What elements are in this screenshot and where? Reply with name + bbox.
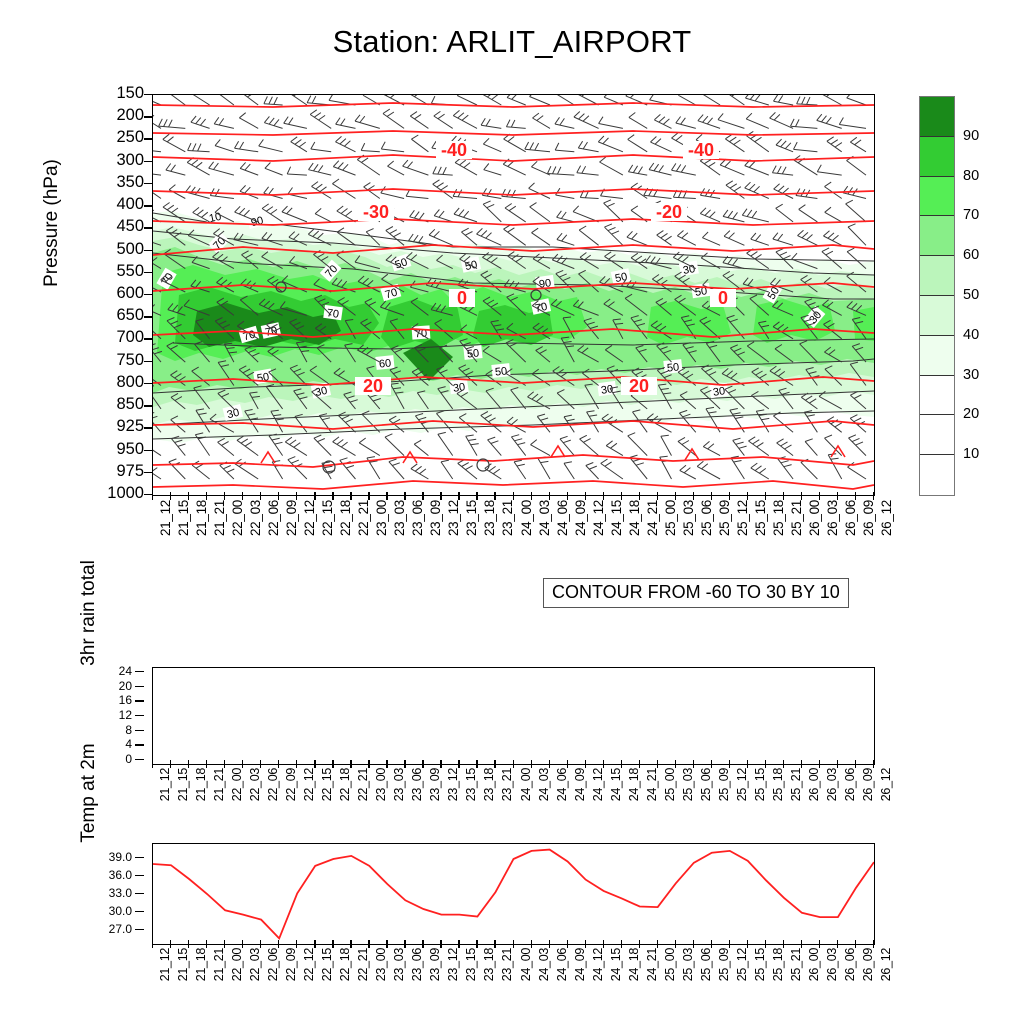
wind-barb <box>702 232 720 245</box>
wind-barb <box>483 138 501 152</box>
wind-barb <box>725 134 744 152</box>
time-tick-26_06: 26_06 <box>843 948 857 981</box>
time-tickmark <box>224 760 225 768</box>
time-tickmark <box>837 492 838 500</box>
wind-barb <box>240 185 258 198</box>
wind-barb <box>548 166 575 175</box>
time-tickmark <box>242 940 243 948</box>
time-tick-21_21: 21_21 <box>212 500 227 536</box>
time-tickmark <box>657 940 658 948</box>
svg-text:30: 30 <box>314 385 328 399</box>
surface-marker-layer <box>261 446 845 463</box>
wind-barb <box>191 116 210 128</box>
wind-barb <box>606 441 623 456</box>
wind-barb <box>329 95 356 105</box>
wind-barb <box>153 95 161 105</box>
pressure-tick-500: 500 <box>116 241 144 258</box>
colorbar-label-70: 70 <box>963 207 979 223</box>
wind-barb <box>332 179 355 199</box>
time-tick-23_03: 23_03 <box>392 948 406 981</box>
wind-barb <box>731 456 745 479</box>
wind-barb <box>651 137 672 152</box>
wind-barb <box>458 459 477 479</box>
wind-barb <box>601 459 623 479</box>
time-tickmark <box>296 760 297 768</box>
time-tickmark <box>639 760 640 768</box>
wind-barb <box>214 117 234 128</box>
wind-barb <box>745 182 769 198</box>
time-tick-24_18: 24_18 <box>627 948 641 981</box>
wind-barb <box>586 463 599 480</box>
colorbar-label-30: 30 <box>963 367 979 383</box>
wind-barb <box>720 159 744 175</box>
wind-barb <box>159 119 186 129</box>
time-tickmark <box>242 492 243 500</box>
time-tickmark <box>188 760 189 768</box>
wind-barb <box>243 95 258 105</box>
pressure-tick-250: 250 <box>116 129 144 146</box>
time-tickmark <box>585 492 586 500</box>
wind-barb <box>403 160 429 175</box>
time-tickmark <box>621 760 622 768</box>
axis-tick-12: 12 <box>119 709 132 721</box>
time-tick-22_00: 22_00 <box>230 768 244 801</box>
pressure-tick-950: 950 <box>116 441 144 458</box>
pressure-tick-1000: 1000 <box>107 485 144 502</box>
time-tickmark <box>476 940 477 948</box>
wind-barb <box>340 458 356 479</box>
time-tickmark <box>873 492 874 500</box>
time-tick-24_21: 24_21 <box>645 948 659 981</box>
wind-barb <box>235 459 258 479</box>
time-tickmark <box>729 492 730 500</box>
wind-barb <box>828 454 842 479</box>
wind-barb <box>827 417 842 433</box>
time-tick-21_15: 21_15 <box>176 948 190 981</box>
time-tick-24_12: 24_12 <box>591 948 605 981</box>
axis-tickmark <box>135 875 144 876</box>
wind-barb <box>153 441 161 456</box>
time-tickmark <box>386 760 387 768</box>
time-tickmark <box>567 940 568 948</box>
wind-barb <box>533 113 551 128</box>
wind-barb <box>259 139 283 151</box>
time-tickmark <box>368 492 369 500</box>
time-tickmark <box>855 940 856 948</box>
wind-barb <box>488 437 502 456</box>
wind-barb <box>307 96 331 105</box>
time-tickmark <box>188 940 189 948</box>
time-tick-23_15: 23_15 <box>464 768 478 801</box>
time-tickmark <box>513 492 514 500</box>
time-tickmark <box>783 492 784 500</box>
time-tickmark <box>873 760 874 768</box>
time-tickmark <box>585 760 586 768</box>
time-tickmark <box>458 760 459 768</box>
time-tick-22_03: 22_03 <box>248 500 263 536</box>
time-tickmark <box>711 940 712 948</box>
time-tickmark <box>711 760 712 768</box>
time-tick-25_06: 25_06 <box>699 948 713 981</box>
axis-tickmark <box>135 686 144 687</box>
time-tickmark <box>603 760 604 768</box>
wind-barb <box>433 180 453 199</box>
wind-barb <box>573 206 599 222</box>
wind-barb <box>631 183 647 199</box>
wind-barb <box>386 227 404 246</box>
time-tickmark <box>170 760 171 768</box>
wind-barb <box>823 231 841 246</box>
time-tick-24_03: 24_03 <box>537 500 552 536</box>
pressure-tick-450: 450 <box>116 218 144 235</box>
wind-barb <box>577 166 599 176</box>
time-tick-23_21: 23_21 <box>500 948 514 981</box>
wind-barb <box>453 110 477 128</box>
time-tick-23_15: 23_15 <box>464 948 478 981</box>
time-tickmark <box>260 760 261 768</box>
wind-barb <box>481 118 501 128</box>
time-tickmark <box>675 940 676 948</box>
svg-text:50: 50 <box>494 365 507 378</box>
pressure-axis-labels: 1502002503003504004505005506006507007508… <box>40 94 144 494</box>
temp-canvas <box>153 844 874 944</box>
wind-barb <box>805 439 817 456</box>
time-tick-22_21: 22_21 <box>356 500 371 536</box>
pressure-tick-350: 350 <box>116 174 144 191</box>
time-tickmark <box>693 760 694 768</box>
wind-barb <box>723 210 744 222</box>
time-tick-25_03: 25_03 <box>681 500 696 536</box>
wind-barb <box>165 95 185 105</box>
time-tick-22_00: 22_00 <box>230 948 244 981</box>
time-tick-25_03: 25_03 <box>681 768 695 801</box>
colorbar-label-50: 50 <box>963 287 979 303</box>
time-tick-23_18: 23_18 <box>482 948 496 981</box>
time-tick-23_15: 23_15 <box>464 500 479 536</box>
time-tickmark <box>404 940 405 948</box>
axis-tickmark <box>135 730 144 731</box>
time-height-cross-section[interactable]: 10 90 70 70 70 50 50 90 70 50 30 70 70 7… <box>152 94 875 496</box>
time-tickmark <box>549 940 550 948</box>
time-tickmark <box>296 492 297 500</box>
wind-barb <box>697 461 720 479</box>
pressure-tick-850: 850 <box>116 396 144 413</box>
wind-barb <box>187 157 209 175</box>
time-tick-22_21: 22_21 <box>356 768 370 801</box>
wind-barb <box>153 181 161 199</box>
time-tickmark <box>693 940 694 948</box>
time-tick-24_03: 24_03 <box>537 948 551 981</box>
time-tick-26_00: 26_00 <box>807 948 821 981</box>
time-tick-24_12: 24_12 <box>591 768 605 801</box>
wind-barb <box>264 96 283 105</box>
wind-barb <box>751 233 769 245</box>
wind-barb <box>314 435 331 456</box>
time-tickmark <box>152 940 153 948</box>
wind-barb <box>555 143 574 152</box>
wind-barb <box>825 207 842 222</box>
time-tickmark <box>386 940 387 948</box>
axis-tick-8: 8 <box>125 724 132 736</box>
wind-barb <box>628 165 647 175</box>
time-tickmark <box>567 760 568 768</box>
time-tick-23_03: 23_03 <box>392 768 406 801</box>
svg-text:0: 0 <box>718 288 728 308</box>
time-tick-22_06: 22_06 <box>266 768 280 801</box>
time-tickmark <box>368 760 369 768</box>
time-tickmark <box>513 940 514 948</box>
wind-barb <box>438 432 453 455</box>
wind-barb <box>282 206 307 222</box>
wind-barb <box>311 142 331 152</box>
time-tickmark <box>260 940 261 948</box>
time-tick-24_18: 24_18 <box>627 768 641 801</box>
wind-barb <box>776 204 793 222</box>
wind-barb <box>507 95 526 105</box>
time-tickmark <box>819 492 820 500</box>
wind-barb <box>337 206 356 222</box>
time-tick-26_00: 26_00 <box>807 768 821 801</box>
time-tickmark <box>837 940 838 948</box>
wind-barb <box>433 167 453 176</box>
pressure-tick-400: 400 <box>116 196 144 213</box>
time-tickmark <box>567 492 568 500</box>
time-tickmark <box>747 940 748 948</box>
time-tick-22_21: 22_21 <box>356 948 370 981</box>
wind-barb <box>529 183 550 199</box>
wind-barb <box>466 435 479 456</box>
wind-barb <box>657 231 672 246</box>
wind-barb <box>726 181 745 199</box>
temp-axis-labels: 39.036.033.030.027.0 <box>78 843 144 943</box>
time-tick-23_18: 23_18 <box>482 768 496 801</box>
time-tickmark <box>675 492 676 500</box>
svg-text:50: 50 <box>256 371 270 385</box>
wind-barb <box>336 136 356 151</box>
wind-barb <box>649 163 671 175</box>
wind-barb <box>411 135 428 152</box>
wind-barb <box>381 142 404 152</box>
time-tick-22_18: 22_18 <box>338 768 352 801</box>
wind-barb <box>410 112 428 129</box>
time-tick-24_09: 24_09 <box>573 500 588 536</box>
time-tickmark <box>296 940 297 948</box>
temp-at-2m-panel[interactable] <box>152 843 875 945</box>
time-tickmark <box>621 492 622 500</box>
axis-tickmark <box>135 715 144 716</box>
time-tickmark <box>458 940 459 948</box>
time-tickmark <box>585 940 586 948</box>
time-tick-23_06: 23_06 <box>410 948 424 981</box>
time-tick-21_18: 21_18 <box>194 768 208 801</box>
rain-total-panel[interactable] <box>152 667 875 765</box>
wind-barb <box>794 142 818 152</box>
wind-barb <box>355 115 380 129</box>
time-tick-23_03: 23_03 <box>392 500 407 536</box>
wind-barb <box>237 436 258 456</box>
wind-barb <box>791 119 818 128</box>
time-tickmark <box>621 940 622 948</box>
time-tick-24_12: 24_12 <box>591 500 606 536</box>
axis-tick-39.0: 39.0 <box>109 851 132 863</box>
wind-barb <box>839 118 866 129</box>
pressure-tick-750: 750 <box>116 352 144 369</box>
wind-barb <box>429 229 453 245</box>
time-tickmark <box>765 940 766 948</box>
time-tick-25_12: 25_12 <box>735 500 750 536</box>
wind-barb <box>700 95 720 105</box>
axis-tickmark <box>135 893 144 894</box>
wind-barb <box>288 457 307 479</box>
wind-barb <box>678 95 696 105</box>
time-tickmark <box>368 940 369 948</box>
time-tickmark <box>531 940 532 948</box>
time-tick-24_15: 24_15 <box>609 948 623 981</box>
time-tick-25_09: 25_09 <box>717 948 731 981</box>
svg-text:-40: -40 <box>441 140 467 160</box>
wind-barb <box>434 210 453 222</box>
wind-barb <box>557 233 574 245</box>
wind-barb <box>361 143 380 152</box>
wind-barb <box>564 462 574 479</box>
time-tick-24_00: 24_00 <box>519 948 533 981</box>
time-tick-25_06: 25_06 <box>699 500 714 536</box>
colorbar-label-90: 90 <box>963 128 979 144</box>
wind-barb <box>748 437 768 456</box>
axis-tick-30.0: 30.0 <box>109 905 132 917</box>
wind-barb <box>848 224 866 246</box>
wind-barb <box>285 437 307 455</box>
axis-tickmark <box>135 929 144 930</box>
wind-barb <box>357 155 380 175</box>
wind-barb <box>455 158 477 176</box>
wind-barb <box>627 231 647 245</box>
time-tick-22_15: 22_15 <box>320 768 334 801</box>
wind-barb <box>580 435 599 455</box>
time-tick-26_12: 26_12 <box>879 948 893 981</box>
time-tick-21_15: 21_15 <box>176 768 190 801</box>
time-tickmark <box>531 492 532 500</box>
wind-barb <box>484 164 502 176</box>
temp-time-axis-labels: 21_1221_1521_1821_2122_0022_0322_0622_09… <box>152 948 873 1010</box>
wind-barb <box>672 163 696 175</box>
time-tick-24_15: 24_15 <box>609 768 623 801</box>
pressure-tick-800: 800 <box>116 374 144 391</box>
time-tickmark <box>747 492 748 500</box>
time-tick-25_00: 25_00 <box>663 768 677 801</box>
wind-barb <box>333 161 355 175</box>
time-tick-24_21: 24_21 <box>645 768 659 801</box>
time-tickmark <box>170 492 171 500</box>
wind-barb <box>264 187 283 199</box>
svg-text:0: 0 <box>457 288 467 308</box>
wind-barb <box>822 95 842 105</box>
time-tickmark <box>801 760 802 768</box>
wind-barb <box>604 200 623 222</box>
time-tickmark <box>422 492 423 500</box>
axis-tickmark <box>135 744 144 745</box>
axis-tick-27.0: 27.0 <box>109 923 132 935</box>
wind-barb <box>598 136 623 152</box>
time-tick-22_09: 22_09 <box>284 948 298 981</box>
axis-tick-20: 20 <box>119 680 132 692</box>
wind-barb <box>169 459 186 479</box>
time-tickmark <box>494 940 495 948</box>
time-tickmark <box>603 940 604 948</box>
time-tick-23_09: 23_09 <box>428 768 442 801</box>
wind-barb <box>483 95 501 105</box>
time-tickmark <box>765 760 766 768</box>
time-tickmark <box>458 492 459 500</box>
svg-text:20: 20 <box>363 376 383 396</box>
time-tickmark <box>440 940 441 948</box>
time-tick-25_03: 25_03 <box>681 948 695 981</box>
time-tickmark <box>152 760 153 768</box>
wind-barb <box>827 137 842 152</box>
wind-barb <box>777 439 794 456</box>
time-tick-23_06: 23_06 <box>410 500 425 536</box>
wind-barb <box>817 165 841 175</box>
wind-barb <box>215 139 234 151</box>
wind-barb <box>312 182 332 199</box>
time-tickmark <box>314 940 315 948</box>
pressure-tick-650: 650 <box>116 307 144 324</box>
wind-barb <box>454 208 477 222</box>
wind-barb <box>774 184 794 199</box>
time-tickmark <box>404 760 405 768</box>
wind-barb <box>817 114 842 128</box>
time-tickmark <box>332 492 333 500</box>
time-tick-26_00: 26_00 <box>807 500 822 536</box>
wind-barb <box>718 113 744 128</box>
time-tickmark <box>855 492 856 500</box>
time-tick-25_09: 25_09 <box>717 500 732 536</box>
time-tick-23_12: 23_12 <box>446 948 460 981</box>
wind-barb <box>414 440 428 455</box>
time-tick-26_03: 26_03 <box>825 500 840 536</box>
time-tick-26_12: 26_12 <box>879 500 894 536</box>
wind-barb <box>680 465 696 479</box>
wind-barb <box>776 139 793 152</box>
pressure-tick-300: 300 <box>116 152 144 169</box>
time-tickmark <box>639 940 640 948</box>
svg-text:30: 30 <box>712 385 726 399</box>
wind-barb <box>847 156 867 175</box>
wind-barb <box>825 182 842 198</box>
wind-barb <box>746 113 769 128</box>
wind-barb <box>272 461 283 479</box>
time-tickmark <box>206 940 207 948</box>
axis-tick-16: 16 <box>119 694 132 706</box>
axis-tickmark <box>135 700 144 701</box>
wind-barb <box>773 233 793 246</box>
svg-text:70: 70 <box>326 307 340 321</box>
time-tick-22_06: 22_06 <box>266 948 280 981</box>
time-tick-21_18: 21_18 <box>194 948 208 981</box>
time-tick-22_12: 22_12 <box>302 500 317 536</box>
pressure-tick-975: 975 <box>116 463 144 480</box>
wind-barb <box>477 228 502 245</box>
time-tickmark <box>314 492 315 500</box>
time-tick-22_09: 22_09 <box>284 768 298 801</box>
time-tick-25_18: 25_18 <box>771 948 785 981</box>
axis-tick-24: 24 <box>119 665 132 677</box>
time-tickmark <box>422 940 423 948</box>
wind-barb <box>504 134 526 152</box>
colorbar-label-10: 10 <box>963 446 979 462</box>
time-tickmark <box>170 940 171 948</box>
time-tick-25_15: 25_15 <box>753 948 767 981</box>
